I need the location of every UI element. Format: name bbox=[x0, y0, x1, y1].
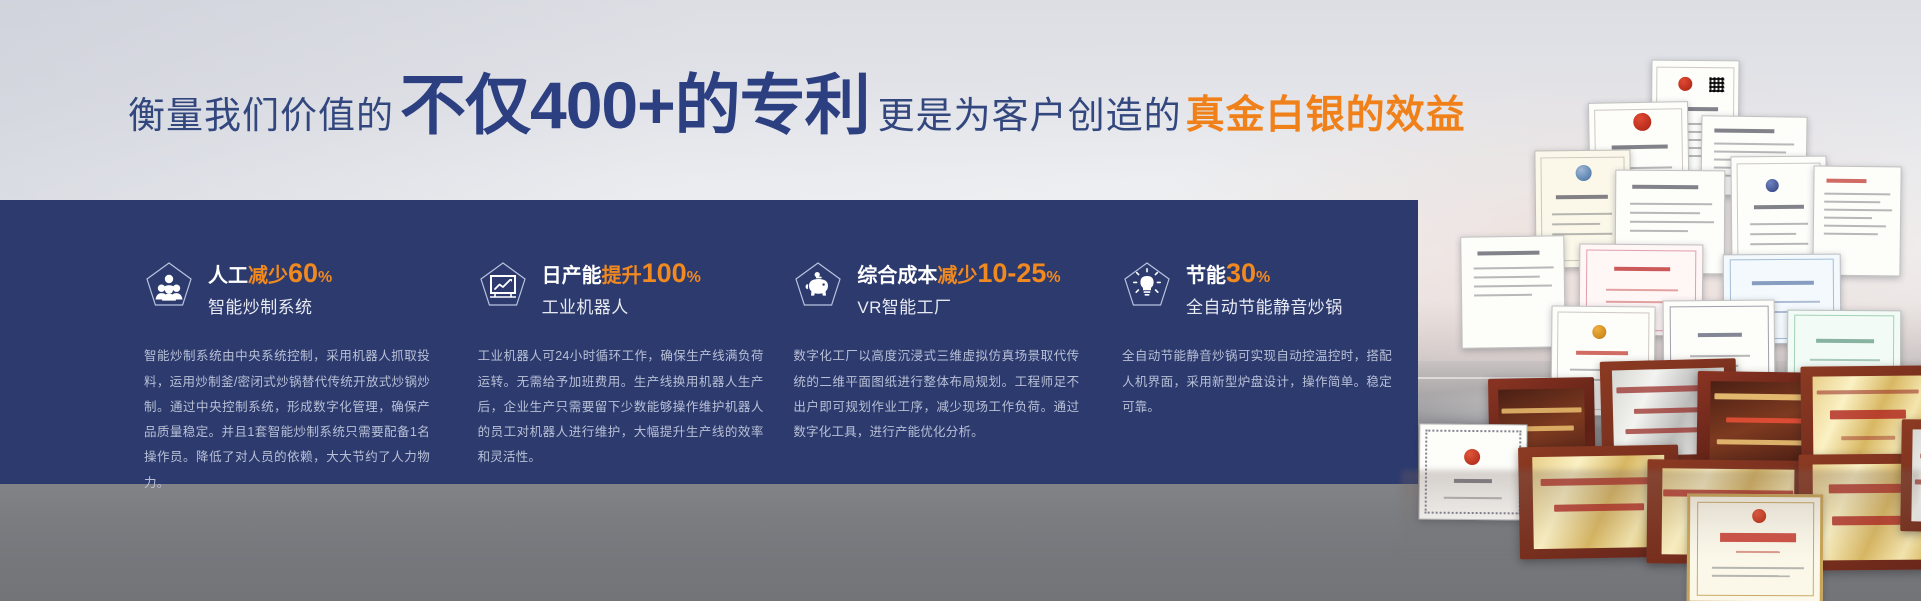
feature-body-2: 工业机器人可24小时循环工作，确保生产线满负荷运转。无需给予加班费用。生产线换用… bbox=[478, 344, 764, 470]
feature-header-1: 人工减少60% 智能炒制系统 bbox=[144, 258, 470, 318]
feature-column-3: 综合成本减少10-25% VR智能工厂 数字化工厂以高度沉浸式三维虚拟仿真场景取… bbox=[793, 258, 1114, 484]
feature-header-4: 节能30% 全自动节能静音炒锅 bbox=[1122, 258, 1418, 318]
feature-header-2: 日产能提升100% 工业机器人 bbox=[478, 258, 792, 318]
metric-word-3: 减少 bbox=[937, 265, 977, 287]
promo-banner: 衡量我们价值的 不仅400+的专利 更是为客户创造的 真金白银的效益 bbox=[0, 0, 1921, 601]
feature-column-4: 节能30% 全自动节能静音炒锅 全自动节能静音炒锅可实现自动控温控时，搭配人机界… bbox=[1122, 258, 1418, 484]
metric-value-2: 100 bbox=[642, 258, 687, 288]
metric-value-3: 10-25 bbox=[977, 258, 1046, 288]
metric-value-1: 60 bbox=[288, 258, 318, 288]
metric-unit-2: % bbox=[687, 269, 701, 286]
metric-word-1: 减少 bbox=[248, 265, 288, 287]
metric-label-4: 节能 bbox=[1186, 265, 1226, 287]
people-group-icon bbox=[144, 260, 194, 310]
certificate-item bbox=[1687, 494, 1824, 601]
feature-column-2: 日产能提升100% 工业机器人 工业机器人可24小时循环工作，确保生产线满负荷运… bbox=[478, 258, 792, 484]
metric-word-2: 提升 bbox=[602, 265, 642, 287]
metric-unit-4: % bbox=[1256, 269, 1270, 286]
metric-label-3: 综合成本 bbox=[857, 265, 937, 287]
metric-2: 日产能提升100% bbox=[542, 259, 701, 287]
metric-value-4: 30 bbox=[1226, 258, 1256, 288]
lightbulb-icon bbox=[1122, 260, 1172, 310]
feature-body-1: 智能炒制系统由中央系统控制，采用机器人抓取投料，运用炒制釜/密闭式炒锅替代传统开… bbox=[144, 344, 430, 496]
metric-4: 节能30% bbox=[1186, 259, 1343, 287]
feature-header-3: 综合成本减少10-25% VR智能工厂 bbox=[793, 258, 1114, 318]
feature-text-4: 节能30% 全自动节能静音炒锅 bbox=[1186, 258, 1343, 318]
piggy-bank-icon bbox=[793, 260, 843, 310]
metric-label-2: 日产能 bbox=[542, 265, 602, 287]
feature-subtitle-3: VR智能工厂 bbox=[857, 293, 1060, 318]
feature-columns: 人工减少60% 智能炒制系统 智能炒制系统由中央系统控制，采用机器人抓取投料，运… bbox=[0, 200, 1418, 484]
metric-unit-3: % bbox=[1046, 269, 1060, 286]
feature-subtitle-4: 全自动节能静音炒锅 bbox=[1186, 293, 1343, 318]
certificate-item bbox=[1460, 235, 1566, 348]
metric-unit-1: % bbox=[318, 269, 332, 286]
certificate-award-stack bbox=[1401, 48, 1921, 508]
metric-label-1: 人工 bbox=[208, 265, 248, 287]
feature-text-3: 综合成本减少10-25% VR智能工厂 bbox=[857, 258, 1060, 318]
feature-body-4: 全自动节能静音炒锅可实现自动控温控时，搭配人机界面，采用新型炉盘设计，操作简单。… bbox=[1122, 344, 1392, 420]
feature-text-2: 日产能提升100% 工业机器人 bbox=[542, 258, 701, 318]
feature-subtitle-2: 工业机器人 bbox=[542, 293, 701, 318]
feature-text-1: 人工减少60% 智能炒制系统 bbox=[208, 258, 332, 318]
certificate-item bbox=[1419, 424, 1528, 521]
headline: 衡量我们价值的 不仅400+的专利 更是为客户创造的 真金白银的效益 bbox=[128, 72, 1466, 140]
headline-middle: 更是为客户创造的 bbox=[878, 85, 1182, 139]
feature-subtitle-1: 智能炒制系统 bbox=[208, 293, 332, 318]
metric-3: 综合成本减少10-25% bbox=[857, 259, 1060, 287]
metric-1: 人工减少60% bbox=[208, 259, 332, 287]
headline-highlight: 不仅400+的专利 bbox=[400, 72, 870, 138]
chart-board-icon bbox=[478, 260, 528, 310]
headline-lead: 衡量我们价值的 bbox=[128, 85, 394, 139]
feature-column-1: 人工减少60% 智能炒制系统 智能炒制系统由中央系统控制，采用机器人抓取投料，运… bbox=[144, 258, 470, 484]
award-plaque bbox=[1900, 419, 1921, 533]
feature-body-3: 数字化工厂以高度沉浸式三维虚拟仿真场景取代传统的二维平面图纸进行整体布局规划。工… bbox=[793, 344, 1079, 445]
